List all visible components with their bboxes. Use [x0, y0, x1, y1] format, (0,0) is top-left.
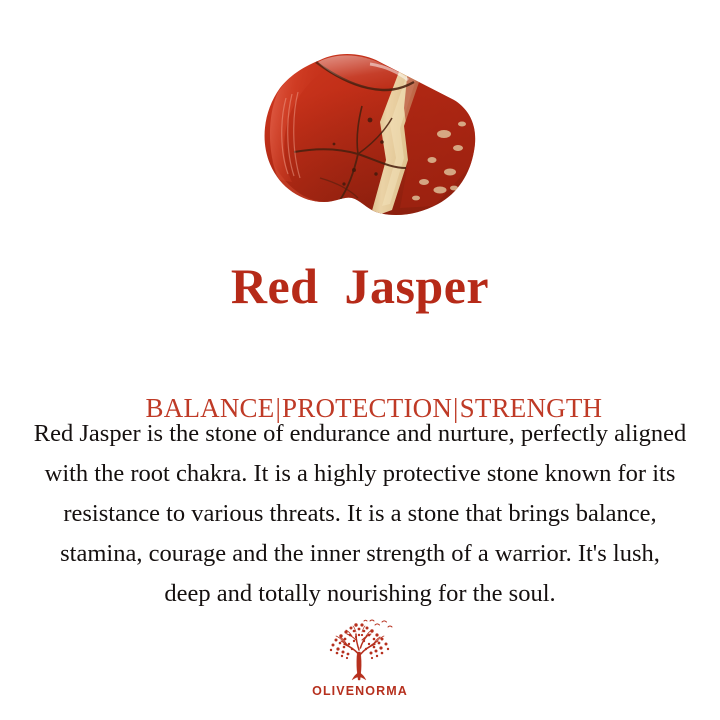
page-title: Red Jasper: [0, 258, 720, 314]
brand-name: OLIVENORMA: [312, 684, 408, 698]
product-info-card: Red Jasper BALANCE|PROTECTION|STRENGTH R…: [0, 0, 720, 720]
tree-of-life-icon: [318, 618, 402, 682]
description-line: deep and totally nourishing for the soul…: [10, 574, 710, 614]
bird-icons: [364, 620, 392, 627]
red-jasper-stone-image: [258, 48, 488, 233]
stone-illustration: [258, 48, 488, 233]
description-line: with the root chakra. It is a highly pro…: [10, 454, 710, 494]
description-paragraph: Red Jasper is the stone of endurance and…: [10, 414, 710, 614]
description-line: stamina, courage and the inner strength …: [10, 534, 710, 574]
description-line: Red Jasper is the stone of endurance and…: [10, 414, 710, 454]
brand-logo: OLIVENORMA: [0, 618, 720, 698]
description-line: resistance to various threats. It is a s…: [10, 494, 710, 534]
stone-body: [258, 48, 488, 233]
